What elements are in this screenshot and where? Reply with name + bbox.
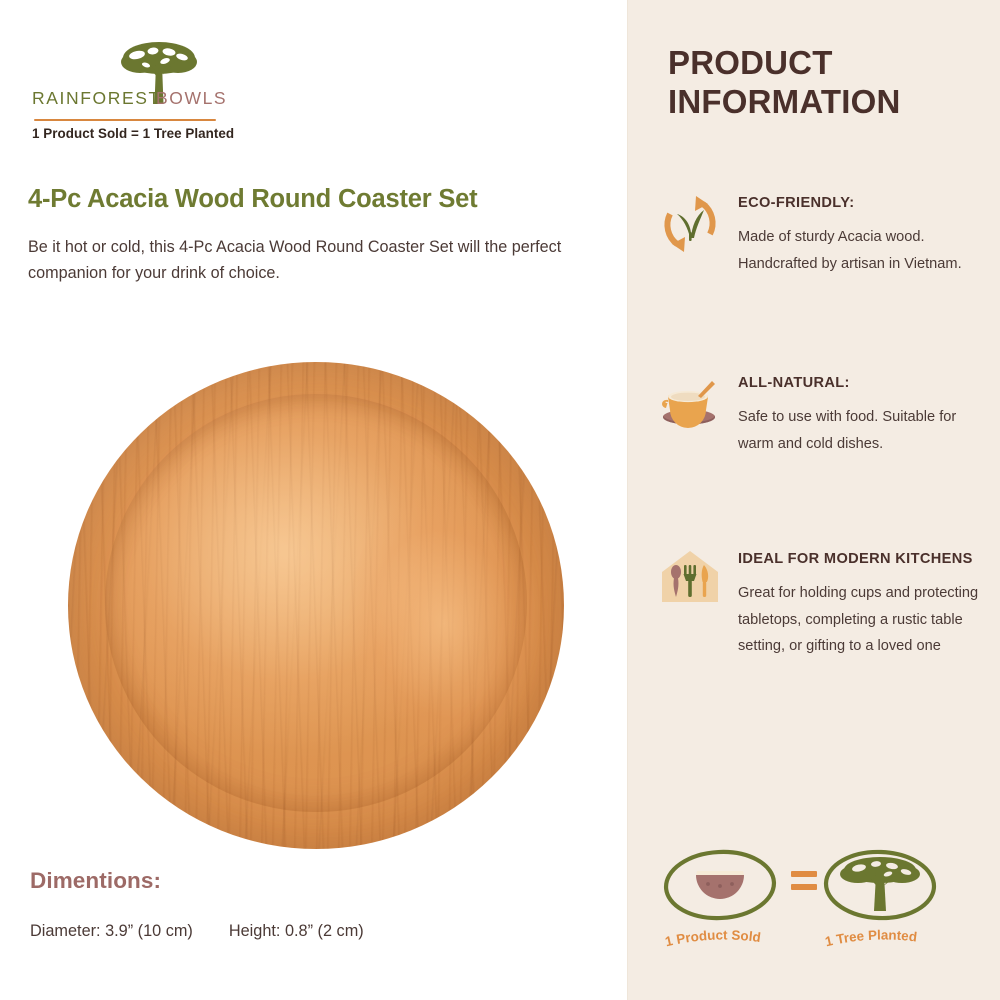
dimension-height: Height: 0.8” (2 cm) — [229, 922, 364, 941]
svg-text:1 Tree Planted: 1 Tree Planted — [824, 927, 918, 949]
brand-logo: RAINFOREST BOWLS 1 Product Sold = 1 Tree… — [32, 38, 222, 146]
recycle-leaf-icon — [658, 192, 722, 256]
promise-left-label: 1 Product Sold — [658, 927, 782, 954]
feature-body: IDEAL FOR MODERN KITCHENS Great for hold… — [738, 548, 988, 660]
feature-modern-kitchens: IDEAL FOR MODERN KITCHENS Great for hold… — [658, 548, 988, 660]
dimensions-values: Diameter: 3.9” (10 cm) Height: 0.8” (2 c… — [30, 922, 364, 941]
panel-title-line1: PRODUCT — [668, 44, 976, 83]
promise-right-label: 1 Tree Planted — [818, 927, 942, 954]
product-image — [62, 352, 574, 857]
coaster-outer-rim — [68, 362, 564, 849]
feature-title: ECO-FRIENDLY: — [738, 194, 988, 213]
cup-saucer-icon — [658, 372, 722, 436]
promise-badges: 1 Product Sold — [658, 845, 978, 965]
feature-body: ECO-FRIENDLY: Made of sturdy Acacia wood… — [738, 192, 988, 277]
house-cutlery-icon — [658, 548, 722, 612]
panel-title: PRODUCT INFORMATION — [668, 44, 976, 122]
logo-wordmark: RAINFOREST BOWLS — [32, 88, 222, 114]
feature-text: Great for holding cups and protecting ta… — [738, 580, 988, 660]
bowl-in-circle-icon — [658, 845, 782, 927]
product-description: Be it hot or cold, this 4-Pc Acacia Wood… — [28, 234, 573, 286]
promise-product-sold: 1 Product Sold — [658, 845, 782, 954]
feature-title: IDEAL FOR MODERN KITCHENS — [738, 550, 988, 569]
feature-eco-friendly: ECO-FRIENDLY: Made of sturdy Acacia wood… — [658, 192, 988, 277]
tree-in-circle-icon — [818, 845, 942, 927]
coaster-disc — [68, 362, 564, 849]
feature-body: ALL-NATURAL: Safe to use with food. Suit… — [738, 372, 988, 457]
product-title: 4-Pc Acacia Wood Round Coaster Set — [28, 184, 598, 215]
feature-text: Safe to use with food. Suitable for warm… — [738, 404, 988, 457]
feature-all-natural: ALL-NATURAL: Safe to use with food. Suit… — [658, 372, 988, 457]
svg-text:1 Product Sold: 1 Product Sold — [664, 927, 762, 949]
promise-left-text: 1 Product Sold — [664, 927, 762, 949]
product-information-page: RAINFOREST BOWLS 1 Product Sold = 1 Tree… — [0, 0, 1000, 1000]
panel-divider — [627, 0, 628, 1000]
panel-title-line2: INFORMATION — [668, 83, 976, 122]
left-panel: RAINFOREST BOWLS 1 Product Sold = 1 Tree… — [0, 0, 628, 1000]
dimension-diameter: Diameter: 3.9” (10 cm) — [30, 922, 193, 941]
feature-title: ALL-NATURAL: — [738, 374, 988, 393]
feature-text: Made of sturdy Acacia wood. Handcrafted … — [738, 224, 988, 277]
brand-tagline: 1 Product Sold = 1 Tree Planted — [32, 126, 234, 141]
equals-icon — [791, 871, 817, 897]
dimensions-heading: Dimentions: — [30, 868, 161, 894]
promise-right-text: 1 Tree Planted — [824, 927, 918, 949]
logo-word-bowls: BOWLS — [156, 88, 227, 109]
promise-tree-planted: 1 Tree Planted — [818, 845, 942, 954]
logo-divider-rule — [34, 119, 216, 121]
right-panel: PRODUCT INFORMATION — [628, 0, 1000, 1000]
logo-word-rainforest: RAINFOREST — [32, 88, 161, 109]
